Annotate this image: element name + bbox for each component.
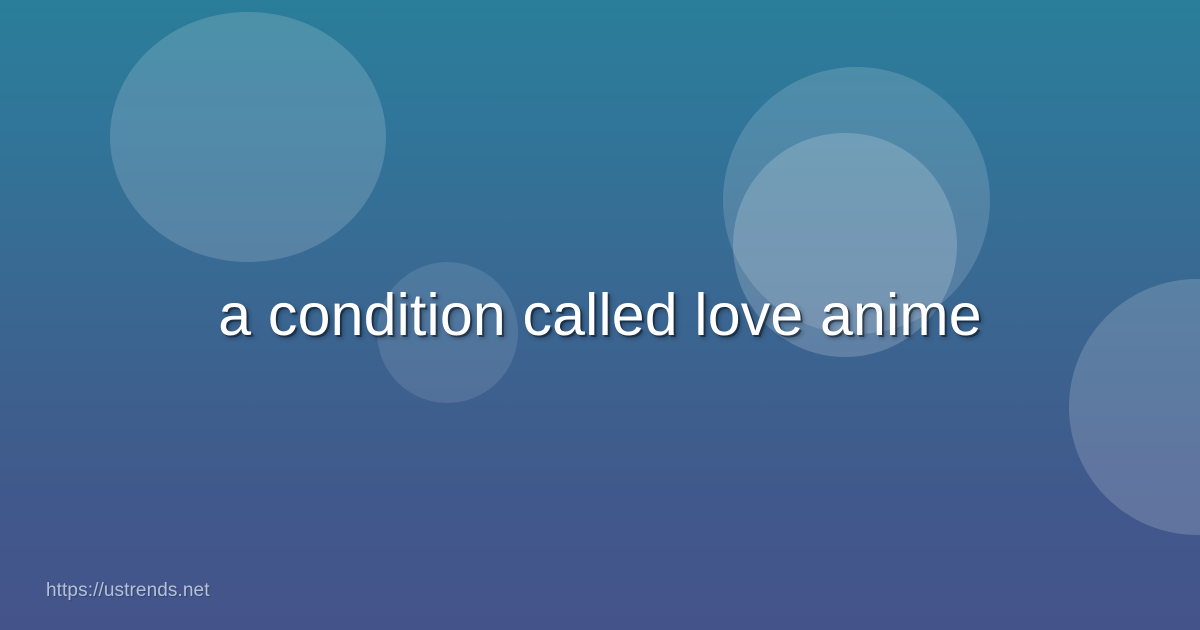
page-title: a condition called love anime: [0, 283, 1200, 348]
og-preview-card: a condition called love anime https://us…: [0, 0, 1200, 630]
site-url-label[interactable]: https://ustrends.net: [46, 580, 210, 602]
title-container: a condition called love anime: [0, 0, 1200, 630]
